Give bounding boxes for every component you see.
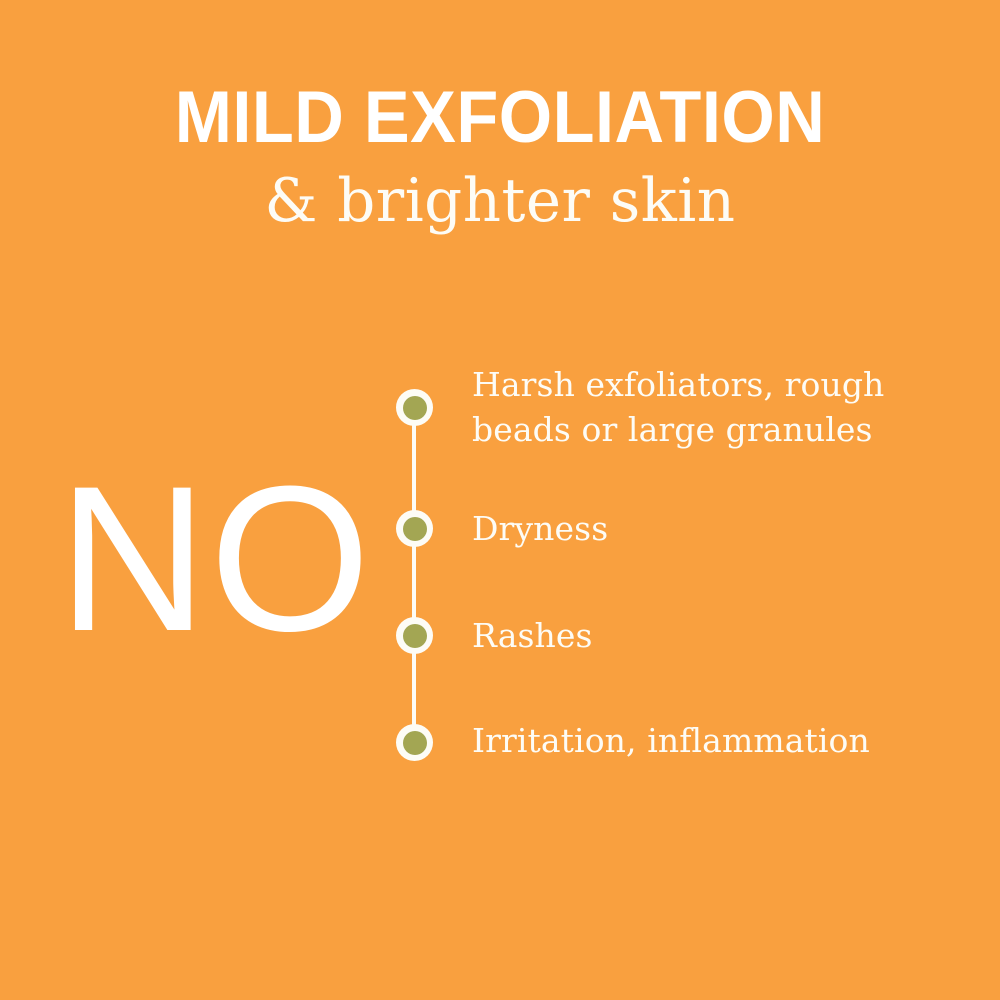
list-item: Rashes — [472, 613, 593, 658]
bullet-node-core — [403, 517, 427, 541]
bullet-node-icon — [396, 389, 433, 426]
bullet-node-icon — [396, 617, 433, 654]
bullet-node-core — [403, 731, 427, 755]
bullet-node-icon — [396, 510, 433, 547]
list-item: Harsh exfoliators, rough beads or large … — [472, 362, 884, 452]
poster-canvas: MILD EXFOLIATION & brighter skin NO Hars… — [0, 0, 1000, 1000]
bullet-node-core — [403, 396, 427, 420]
bullet-node-icon — [396, 724, 433, 761]
list-item: Dryness — [472, 506, 608, 551]
list-item: Irritation, inflammation — [472, 718, 870, 763]
bullet-node-core — [403, 624, 427, 648]
timeline-axis-line — [412, 400, 416, 748]
timeline-list: Harsh exfoliators, rough beads or large … — [0, 0, 1000, 1000]
